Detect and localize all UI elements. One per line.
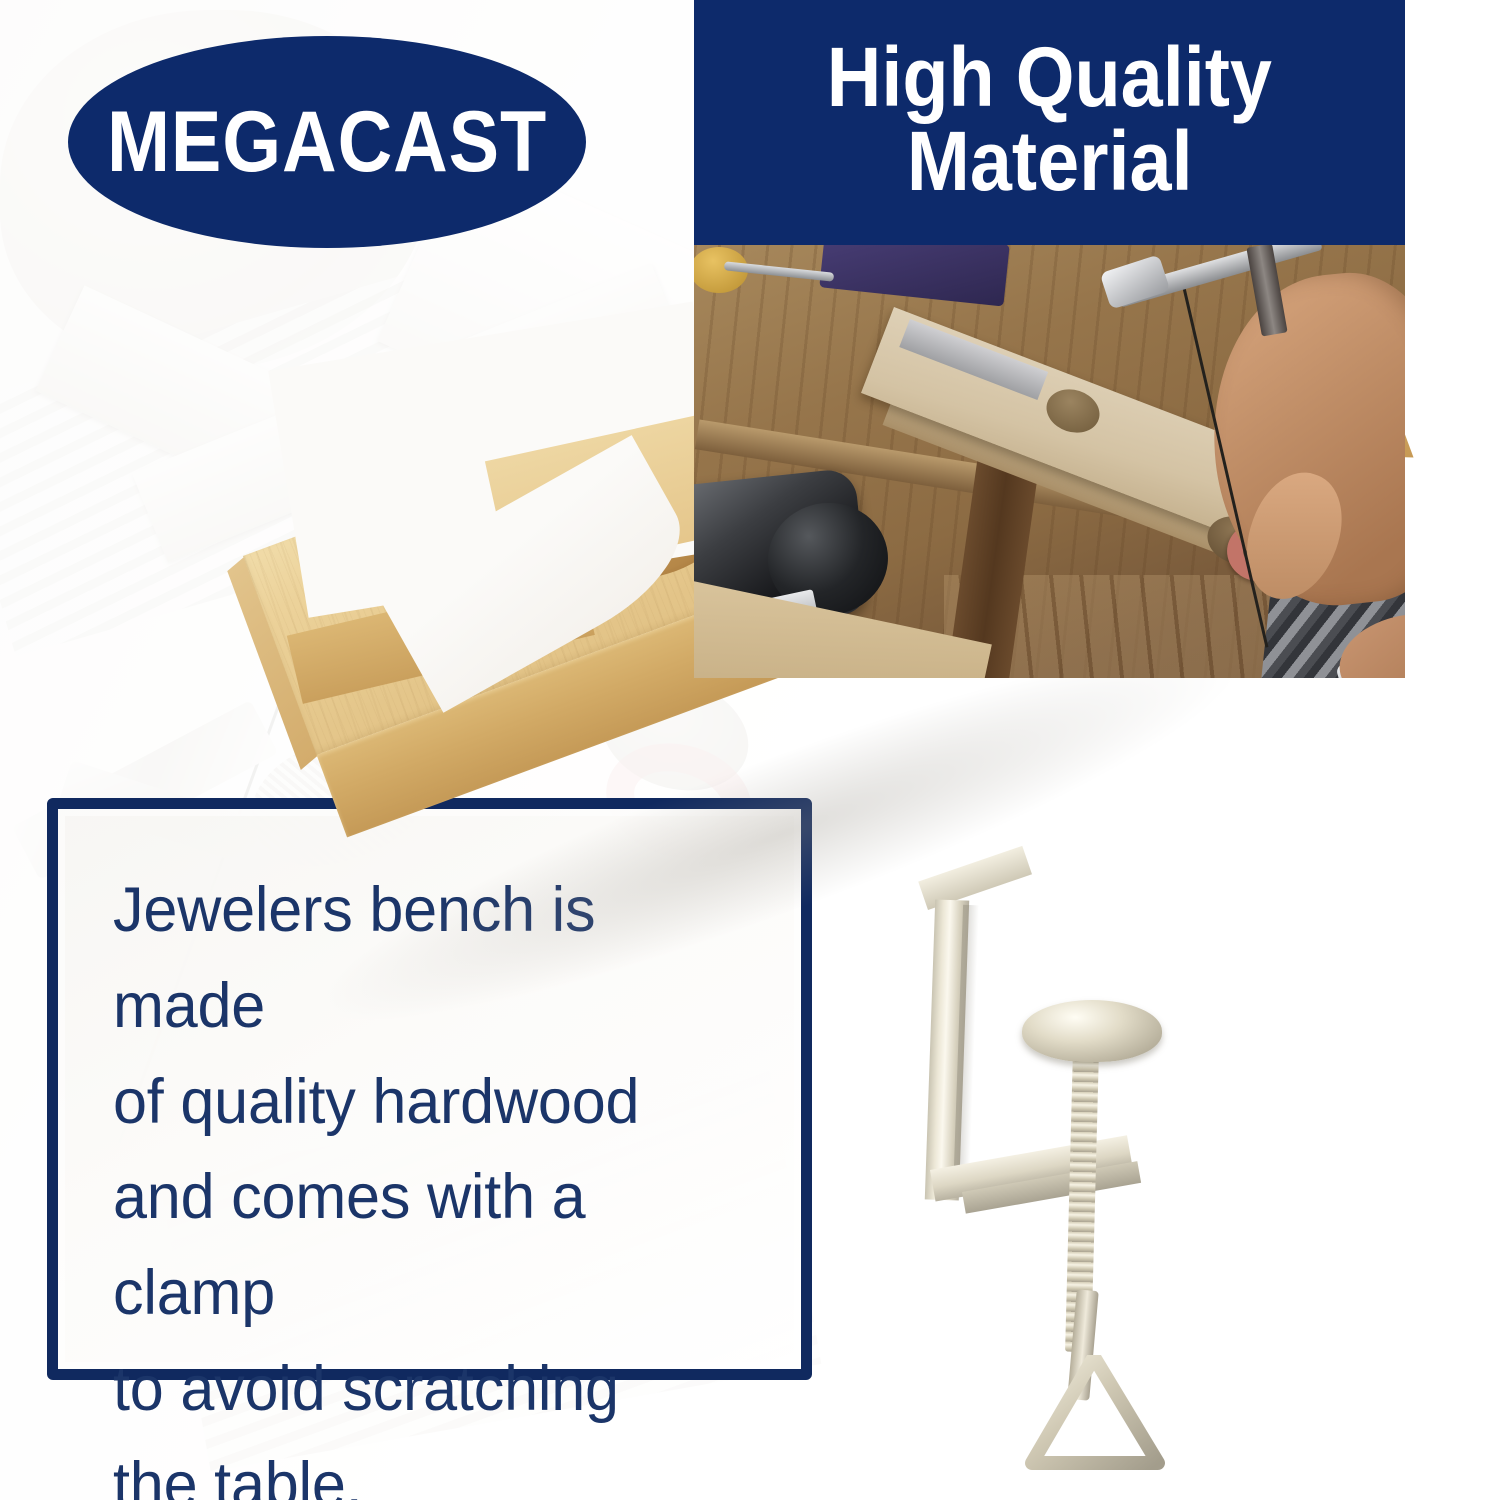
brand-logo-text: MEGACAST: [107, 99, 547, 185]
clamp-triangular-handle: [1006, 1355, 1176, 1475]
brand-logo: MEGACAST: [68, 36, 586, 248]
product-infographic: MEGACAST High Quality Material: [0, 0, 1500, 1500]
inset-photo: [694, 245, 1405, 678]
header-title-line-1: High Quality: [827, 36, 1272, 119]
header-banner: High Quality Material: [694, 0, 1405, 245]
header-title-line-2: Material: [907, 120, 1193, 203]
clamp-thumb-knob: [1022, 1000, 1162, 1062]
